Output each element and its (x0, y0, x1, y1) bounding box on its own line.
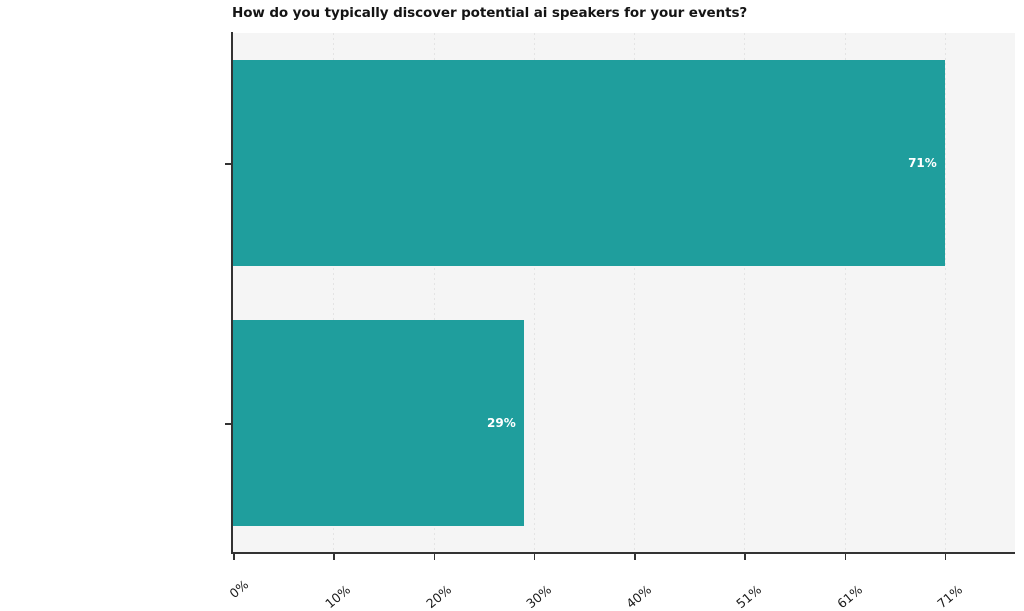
x-axis-label-text: 30% (523, 582, 554, 611)
x-axis-tick (534, 554, 536, 560)
y-axis-spine (231, 32, 233, 554)
x-axis-label-text: 10% (322, 582, 353, 611)
x-axis-tick (845, 554, 847, 560)
y-axis-tick (225, 423, 231, 425)
x-axis-label: 40% (645, 564, 676, 593)
bar[interactable] (233, 60, 945, 265)
chart-title: How do you typically discover potential … (232, 5, 1012, 21)
x-axis-tick (333, 554, 335, 560)
bar[interactable] (233, 320, 524, 525)
bar-value-label: 71% (908, 156, 937, 170)
x-axis-label-text: 61% (834, 582, 865, 611)
x-axis-label-text: 40% (623, 582, 654, 611)
x-axis-label-text: 0% (226, 577, 251, 601)
x-axis-label: 51% (755, 564, 786, 593)
x-axis-tick (233, 554, 235, 560)
x-axis-label: 30% (544, 564, 575, 593)
x-axis-label: 20% (444, 564, 475, 593)
x-axis-spine (231, 552, 1015, 554)
x-axis-tick (744, 554, 746, 560)
plot-area: 71%29% (233, 33, 1015, 553)
x-axis-label: 0% (242, 564, 267, 588)
x-axis-label-text: 51% (734, 582, 765, 611)
x-axis-tick (434, 554, 436, 560)
x-axis-tick (945, 554, 947, 560)
x-axis-label-text: 20% (423, 582, 454, 611)
bar-value-label: 29% (487, 416, 516, 430)
gridline (945, 33, 946, 553)
x-axis-label: 61% (855, 564, 886, 593)
y-axis-tick (225, 163, 231, 165)
x-axis-tick (634, 554, 636, 560)
x-axis-label-text: 71% (934, 582, 965, 611)
x-axis-label: 10% (344, 564, 375, 593)
chart-figure: How do you typically discover potential … (0, 0, 1024, 609)
x-axis-label: 71% (955, 564, 986, 593)
